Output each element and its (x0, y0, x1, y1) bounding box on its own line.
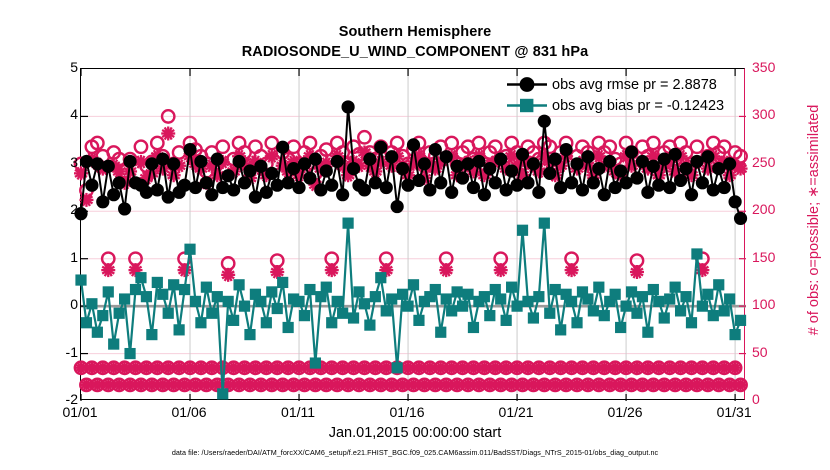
y-tick-left-neg1: -1 (66, 344, 78, 360)
x-tick-01-26: 01/26 (608, 404, 643, 420)
x-tick-01-21: 01/21 (499, 404, 534, 420)
legend-item-bias: obs avg bias pr = -0.12423 (505, 95, 724, 116)
legend-label-rmse: obs avg rmse pr = 2.8878 (549, 77, 717, 93)
y-axis-right-label: # of obs: o=possible; ∗=assimilated (806, 40, 822, 400)
plot-area (80, 68, 745, 400)
y-tick-right-150: 150 (752, 249, 775, 265)
y-tick-right-0: 0 (752, 391, 760, 407)
y-tick-left-4: 4 (70, 106, 78, 122)
y-tick-left-2: 2 (70, 201, 78, 217)
x-tick-01-31: 01/31 (717, 404, 752, 420)
y-tick-right-100: 100 (752, 296, 775, 312)
title-line-1: Southern Hemisphere (0, 22, 830, 42)
y-tick-left-5: 5 (70, 59, 78, 75)
y-tick-right-50: 50 (752, 344, 768, 360)
title-line-2: RADIOSONDE_U_WIND_COMPONENT @ 831 hPa (0, 42, 830, 62)
y-tick-right-250: 250 (752, 154, 775, 170)
data-file-footer: data file: /Users/raeder/DAI/ATM_forcXX/… (0, 448, 830, 457)
y-tick-left-1: 1 (70, 249, 78, 265)
y-tick-right-300: 300 (752, 106, 775, 122)
x-tick-01-01: 01/01 (62, 404, 97, 420)
y-tick-right-200: 200 (752, 201, 775, 217)
legend-item-rmse: obs avg rmse pr = 2.8878 (505, 74, 724, 95)
y-tick-left-3: 3 (70, 154, 78, 170)
data-layer (81, 69, 746, 401)
x-tick-01-16: 01/16 (390, 404, 425, 420)
legend-label-bias: obs avg bias pr = -0.12423 (549, 98, 724, 114)
x-tick-01-06: 01/06 (171, 404, 206, 420)
legend: obs avg rmse pr = 2.8878 obs avg bias pr… (505, 74, 724, 116)
legend-marker-filled-circle-icon (505, 74, 549, 95)
x-tick-01-11: 01/11 (281, 404, 315, 420)
legend-marker-filled-square-icon (505, 95, 549, 116)
y-tick-right-350: 350 (752, 59, 775, 75)
x-axis-label: Jan.01,2015 00:00:00 start (0, 425, 830, 441)
y-tick-left-0: 0 (70, 296, 78, 312)
chart-title: Southern Hemisphere RADIOSONDE_U_WIND_CO… (0, 22, 830, 62)
